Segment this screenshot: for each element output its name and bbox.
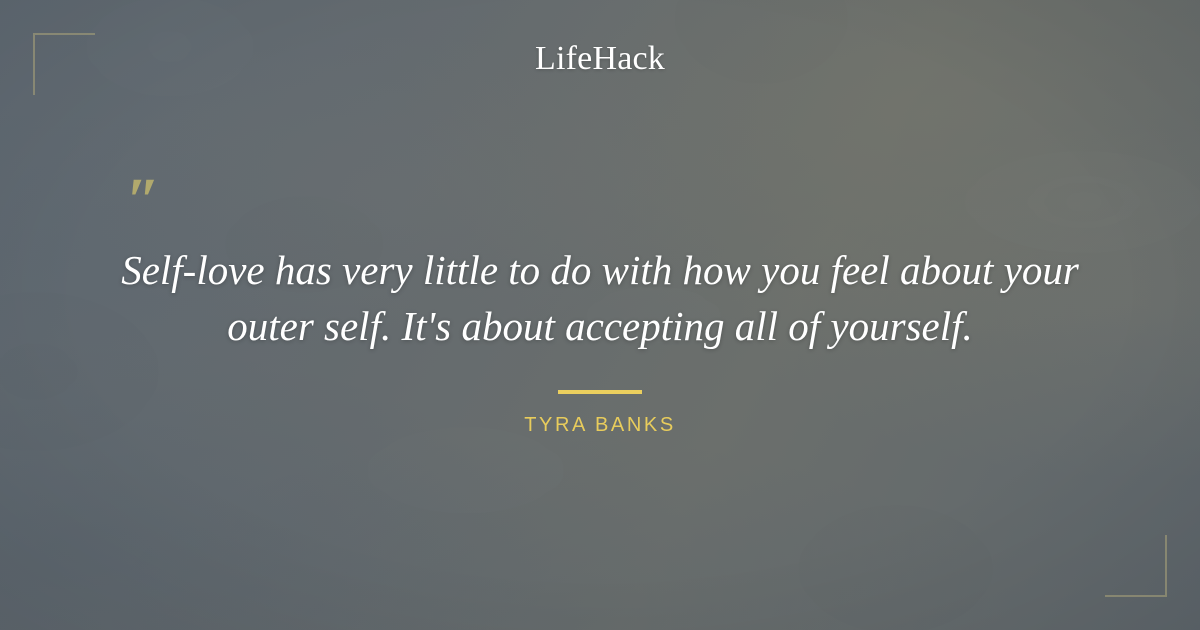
quotation-mark-icon: ″	[126, 170, 159, 232]
quote-card: LifeHack ″ Self-love has very little to …	[0, 0, 1200, 630]
gold-divider	[558, 390, 642, 394]
quote-author: TYRA BANKS	[0, 414, 1200, 437]
quote-text: Self-love has very little to do with how…	[100, 242, 1100, 354]
divider-wrapper	[0, 381, 1200, 399]
brand-logo: LifeHack	[0, 40, 1200, 77]
